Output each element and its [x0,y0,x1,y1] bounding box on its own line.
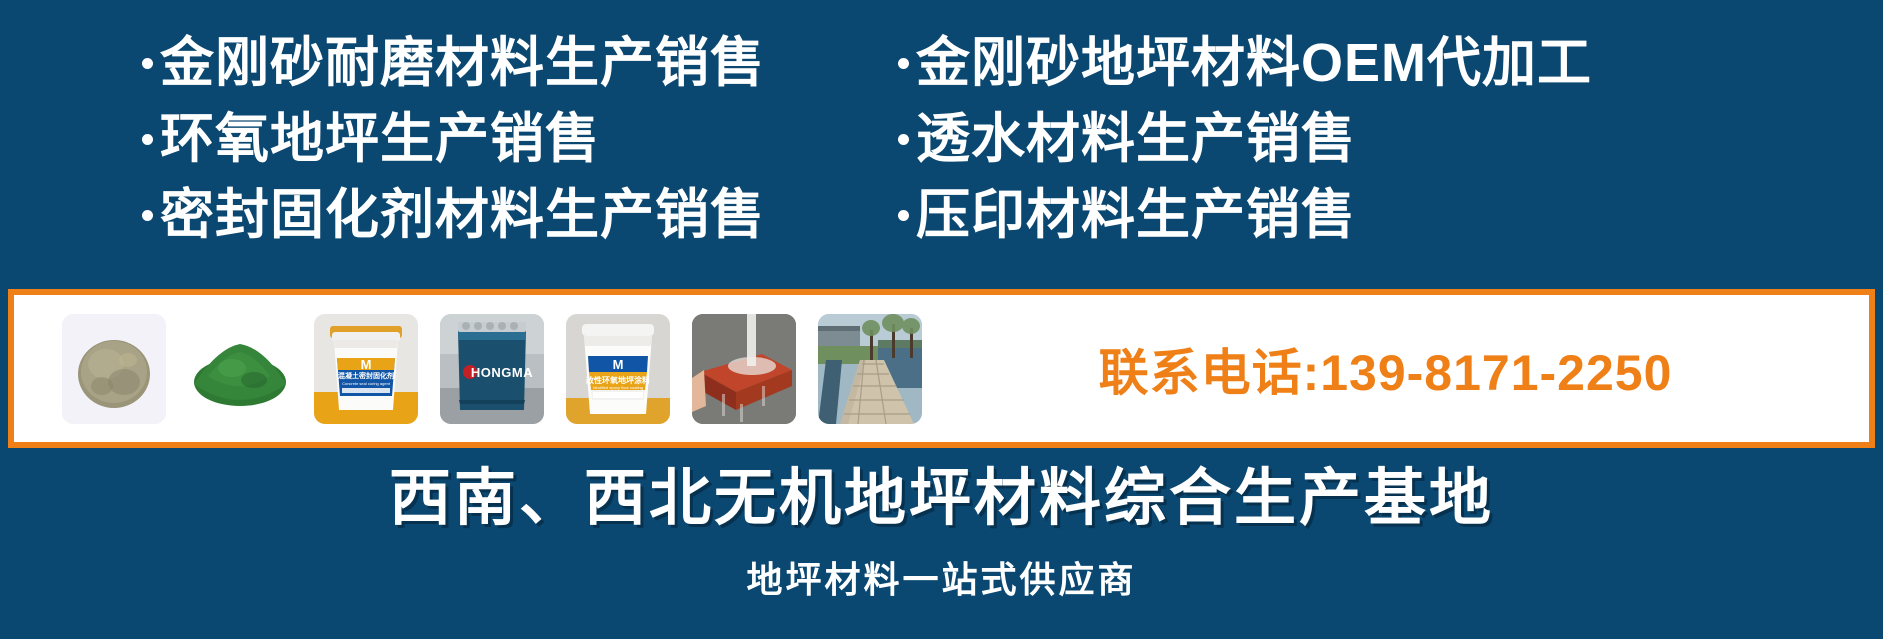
product-thumb-hongma-drum: HONGMA [440,314,544,424]
product-showcase-panel: M 混凝土密封固化剂 Concrete seal curing agent [8,289,1875,448]
bullet-label: 金刚砂地坪材料OEM代加工 [916,32,1592,94]
svg-text:M: M [613,357,624,372]
bullet-item: 金刚砂地坪材料OEM代加工 [898,32,1883,94]
bullet-label: 环氧地坪生产销售 [160,108,600,170]
bullet-item: 透水材料生产销售 [898,108,1883,170]
product-thumb-emery-powder [62,314,166,424]
product-thumb-green-powder [188,314,292,424]
bullet-item: 环氧地坪生产销售 [142,108,880,170]
product-thumb-stamped-pavement [818,314,922,424]
promotional-banner: 金刚砂耐磨材料生产销售 环氧地坪生产销售 密封固化剂材料生产销售 金刚砂地坪材料… [0,0,1883,639]
product-thumbnail-strip: M 混凝土密封固化剂 Concrete seal curing agent [14,295,922,442]
bullet-dot-icon [142,58,153,69]
product-thumb-seal-curing-agent-pail: M 混凝土密封固化剂 Concrete seal curing agent [314,314,418,424]
svg-text:Modified epoxy floor coating: Modified epoxy floor coating [593,385,643,390]
bullet-label: 压印材料生产销售 [916,184,1356,246]
bullet-label: 密封固化剂材料生产销售 [160,184,765,246]
svg-text:HONGMA: HONGMA [471,365,533,380]
bullet-column-right: 金刚砂地坪材料OEM代加工 透水材料生产销售 压印材料生产销售 [880,32,1883,284]
bullet-dot-icon [142,210,153,221]
contact-phone-number[interactable]: 联系电话:139-8171-2250 [1099,333,1673,405]
product-thumb-permeable-concrete [692,314,796,424]
bullet-dot-icon [898,210,909,221]
product-thumb-epoxy-coating-pail: M 改性环氧地坪涂料 Modified epoxy floor coating [566,314,670,424]
service-bullet-lists: 金刚砂耐磨材料生产销售 环氧地坪生产销售 密封固化剂材料生产销售 金刚砂地坪材料… [0,32,1883,284]
bullet-column-left: 金刚砂耐磨材料生产销售 环氧地坪生产销售 密封固化剂材料生产销售 [0,32,880,284]
svg-text:Concrete seal curing agent: Concrete seal curing agent [342,381,391,386]
banner-subheadline: 地坪材料一站式供应商 [0,558,1883,602]
bullet-dot-icon [898,134,909,145]
contact-phone-area: 联系电话:139-8171-2250 [922,333,1869,405]
banner-headline: 西南、西北无机地坪材料综合生产基地 [0,462,1883,536]
bullet-item: 压印材料生产销售 [898,184,1883,246]
svg-text:混凝土密封固化剂: 混凝土密封固化剂 [338,371,394,380]
bullet-item: 金刚砂耐磨材料生产销售 [142,32,880,94]
bullet-item: 密封固化剂材料生产销售 [142,184,880,246]
svg-text:M: M [361,357,372,372]
bullet-dot-icon [142,134,153,145]
bullet-dot-icon [898,58,909,69]
bullet-label: 透水材料生产销售 [916,108,1356,170]
svg-text:改性环氧地坪涂料: 改性环氧地坪涂料 [586,375,650,385]
bullet-label: 金刚砂耐磨材料生产销售 [160,32,765,94]
